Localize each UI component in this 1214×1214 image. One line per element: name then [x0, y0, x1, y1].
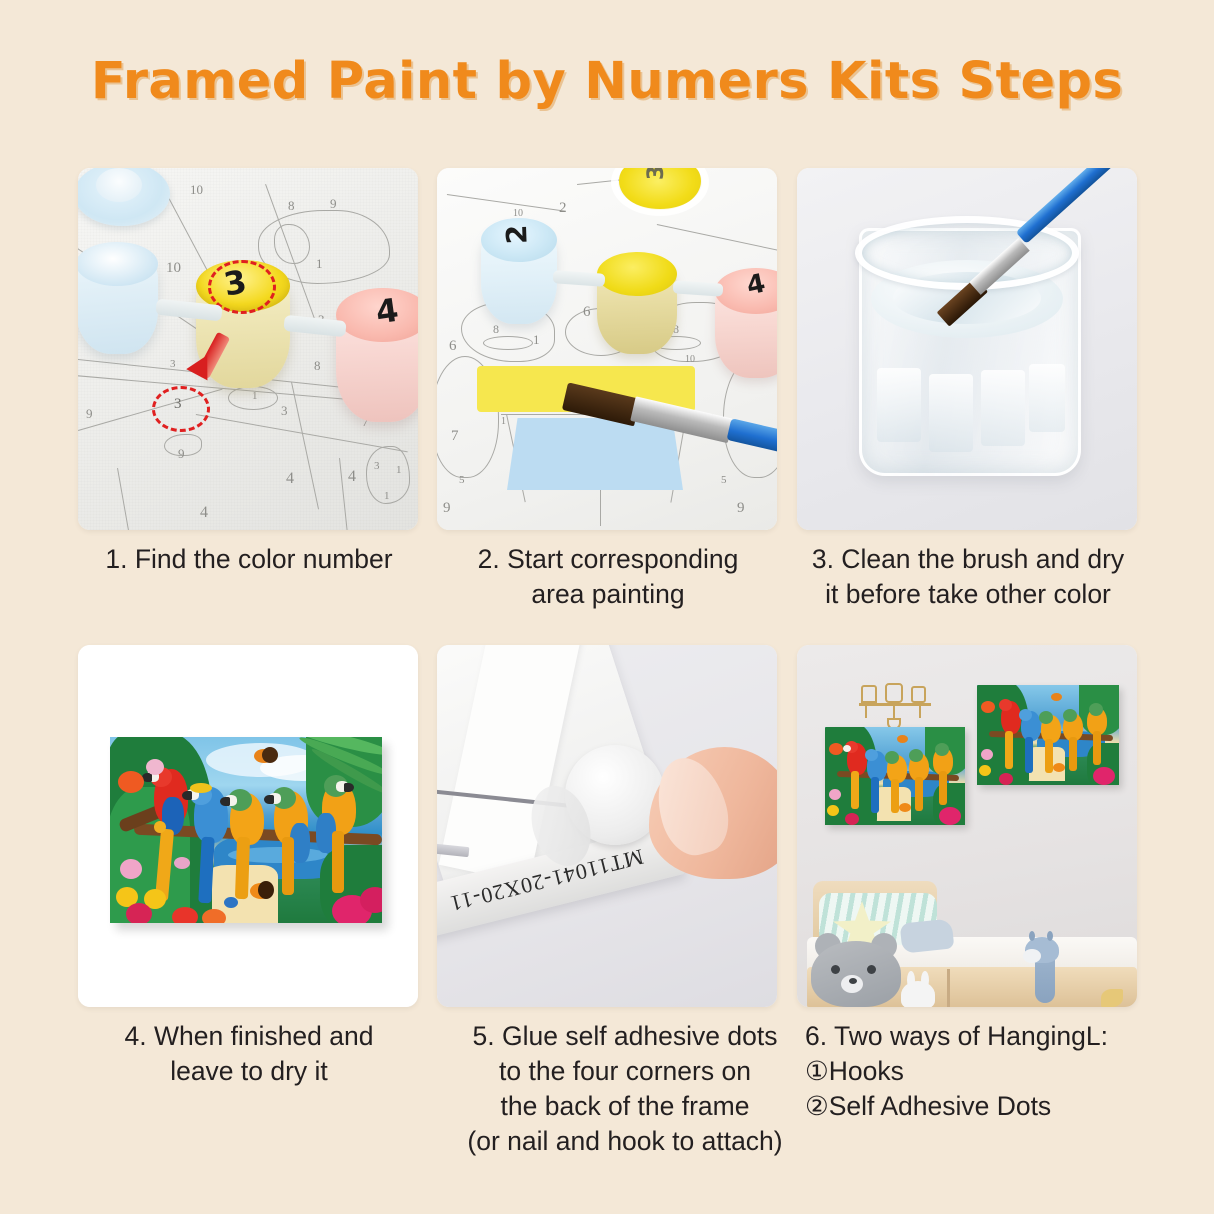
caption-line: to the four corners on [445, 1054, 805, 1089]
canvas-number: 10 [685, 354, 695, 365]
step-1-photo: 10 8 9 1 10 3 8 9 3 1 3 7 9 4 4 4 3 1 1 [78, 168, 418, 530]
caption-line: 5. Glue self adhesive dots [445, 1019, 805, 1054]
wall-hook-rail [859, 677, 931, 721]
caption-line: it before take other color [785, 577, 1151, 612]
canvas-number: 5 [459, 474, 465, 486]
caption-line: 1. Find the color number [66, 542, 432, 577]
bear-nose [849, 978, 857, 984]
parrot-artwork [110, 737, 382, 923]
canvas-number: 7 [451, 428, 459, 445]
canvas-number: 6 [449, 338, 457, 355]
canvas-number: 3 [170, 358, 176, 370]
canvas-number: 9 [737, 500, 745, 517]
step-6-caption: 6. Two ways of HangingL: ①Hooks ②Self Ad… [805, 1019, 1165, 1124]
canvas-number: 9 [443, 500, 451, 517]
canvas-number: 8 [314, 358, 321, 374]
canvas-number: 5 [721, 474, 727, 486]
canvas-number: 1 [396, 464, 402, 476]
giraffe-horn-right [1047, 931, 1053, 941]
parrot-painting-right[interactable] [977, 685, 1119, 785]
step-2-caption: 2. Start corresponding area painting [425, 542, 791, 612]
bear-eye-left [831, 965, 840, 974]
paint-pot-label: 3 [644, 168, 669, 180]
canvas-number: 4 [348, 468, 356, 486]
steps-grid: 10 8 9 1 10 3 8 9 3 1 3 7 9 4 4 4 3 1 1 [0, 0, 1214, 1214]
step-5-photo: MT11041-20X20-11 [437, 645, 777, 1007]
infographic-page: Framed Paint by Numers Kits Steps [0, 0, 1214, 1214]
canvas-number: 1 [384, 490, 390, 502]
canvas-number: 4 [286, 470, 294, 488]
bear-toy [811, 941, 901, 1007]
canvas-number: 3 [374, 460, 380, 472]
paint-pot-opening [96, 168, 142, 202]
caption-line: area painting [425, 577, 791, 612]
target-number: 3 [174, 396, 182, 413]
canvas-number: 3 [281, 403, 288, 419]
parrot-painting-left[interactable] [825, 727, 965, 825]
paint-pot-opening [597, 252, 677, 296]
bear-eye-right [867, 965, 876, 974]
canvas-number: 1 [316, 256, 323, 272]
step-2-photo: 2 10 6 8 1 8 10 6 7 7 5 5 9 9 1 1 3 [437, 168, 777, 530]
painted-blue-area [507, 418, 683, 490]
canvas-number: 8 [288, 198, 295, 214]
paint-pot-opening [78, 242, 158, 286]
giraffe-toy-muzzle [1023, 949, 1041, 963]
framed-canvas [110, 737, 382, 923]
canvas-number: 10 [166, 260, 181, 277]
canvas-number: 1 [501, 416, 506, 427]
caption-line: the back of the frame [445, 1089, 805, 1124]
canvas-number: 9 [178, 446, 185, 462]
step-4-photo [78, 645, 418, 1007]
caption-line: ②Self Adhesive Dots [805, 1089, 1165, 1124]
glass-rim [855, 216, 1079, 290]
toy-accent [1101, 989, 1123, 1007]
canvas-number: 9 [330, 196, 337, 212]
rabbit-toy [901, 981, 935, 1007]
canvas-number: 6 [583, 304, 591, 321]
canvas-number: 1 [252, 390, 258, 402]
rabbit-ear-right [921, 971, 929, 989]
step-4-caption: 4. When finished and leave to dry it [66, 1019, 432, 1089]
caption-line: (or nail and hook to attach) [445, 1124, 805, 1159]
paint-pot-label: 2 [500, 224, 534, 245]
caption-line: 4. When finished and [66, 1019, 432, 1054]
caption-line: 2. Start corresponding [425, 542, 791, 577]
canvas-number: 10 [190, 182, 203, 198]
canvas-number: 2 [559, 200, 567, 217]
canvas-number: 4 [200, 504, 208, 522]
canvas-number: 9 [86, 406, 93, 422]
bed-frame-divider [947, 969, 950, 1007]
caption-line: 6. Two ways of HangingL: [805, 1019, 1165, 1054]
canvas-number: 8 [493, 322, 499, 337]
caption-line: 3. Clean the brush and dry [785, 542, 1151, 577]
step-1-caption: 1. Find the color number [66, 542, 432, 577]
step-5-caption: 5. Glue self adhesive dots to the four c… [445, 1019, 805, 1159]
canvas-number: 1 [533, 332, 540, 348]
caption-line: ①Hooks [805, 1054, 1165, 1089]
step-3-photo [797, 168, 1137, 530]
rabbit-ear-left [907, 971, 915, 989]
caption-line: leave to dry it [66, 1054, 432, 1089]
giraffe-horn-left [1029, 931, 1035, 941]
step-3-caption: 3. Clean the brush and dry it before tak… [785, 542, 1151, 612]
step-6-photo [797, 645, 1137, 1007]
gray-blanket [900, 918, 955, 953]
